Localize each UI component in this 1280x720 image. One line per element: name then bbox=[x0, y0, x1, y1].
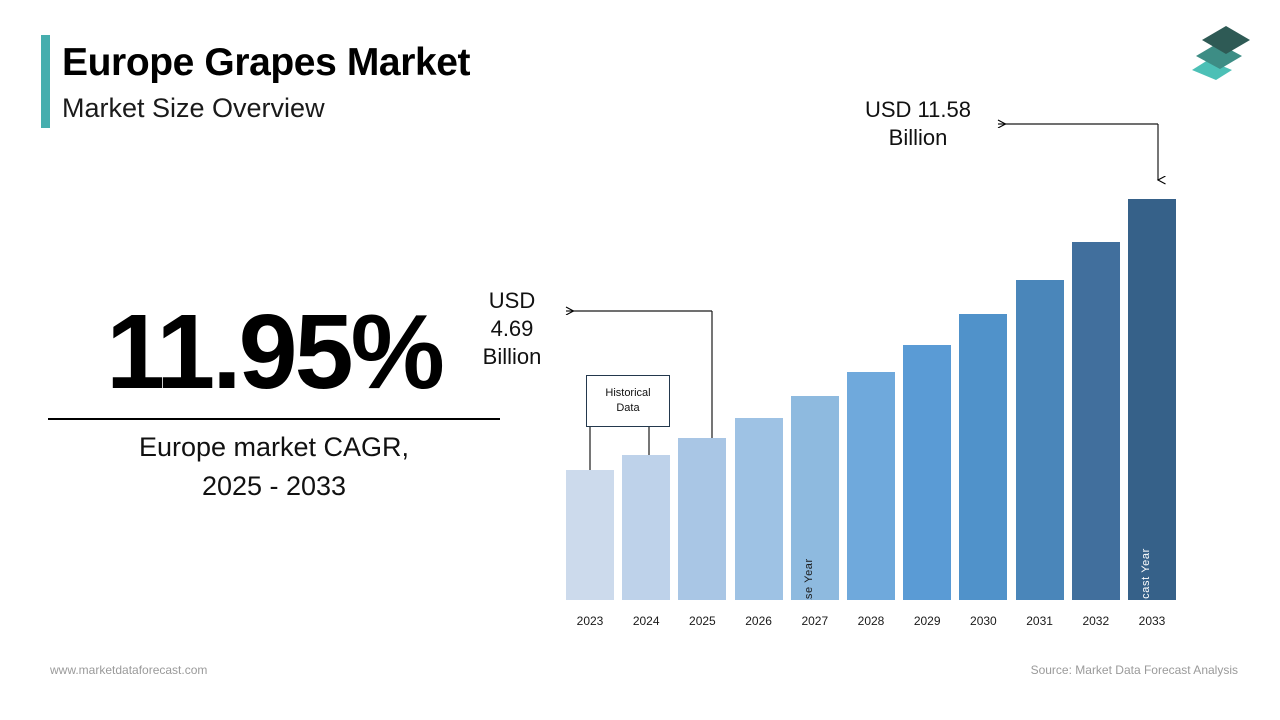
x-axis-label-2026: 2026 bbox=[735, 614, 783, 628]
cagr-divider bbox=[48, 418, 500, 420]
cagr-caption-line2: 2025 - 2033 bbox=[48, 467, 500, 506]
x-axis-label-2025: 2025 bbox=[678, 614, 726, 628]
end-value-line2: Billion bbox=[828, 124, 1008, 152]
x-axis-label-2031: 2031 bbox=[1016, 614, 1064, 628]
bar-2030[interactable] bbox=[959, 314, 1007, 600]
bar-slot: Base Year2027 bbox=[791, 190, 839, 630]
footer-source: Source: Market Data Forecast Analysis bbox=[1031, 663, 1238, 677]
x-axis-label-2028: 2028 bbox=[847, 614, 895, 628]
bar-2023[interactable] bbox=[566, 470, 614, 600]
x-axis-label-2024: 2024 bbox=[622, 614, 670, 628]
start-value-line2: 4.69 bbox=[466, 315, 558, 343]
footer-website[interactable]: www.marketdataforecast.com bbox=[50, 663, 207, 677]
end-value-callout: USD 11.58 Billion bbox=[828, 96, 1008, 152]
x-axis-label-2033: 2033 bbox=[1128, 614, 1176, 628]
page-title: Europe Grapes Market bbox=[62, 38, 702, 88]
bar-2029[interactable] bbox=[903, 345, 951, 600]
bar-slot: 2024 bbox=[622, 190, 670, 630]
bar-slot: 2031 bbox=[1016, 190, 1064, 630]
x-axis-label-2030: 2030 bbox=[959, 614, 1007, 628]
bar-slot: 2032 bbox=[1072, 190, 1120, 630]
end-value-line1: USD 11.58 bbox=[828, 96, 1008, 124]
cagr-caption-line1: Europe market CAGR, bbox=[48, 428, 500, 467]
bar-slot: 2023 bbox=[566, 190, 614, 630]
bar-2031[interactable] bbox=[1016, 280, 1064, 600]
page-subtitle: Market Size Overview bbox=[62, 88, 702, 128]
start-value-line1: USD bbox=[466, 287, 558, 315]
x-axis-label-2032: 2032 bbox=[1072, 614, 1120, 628]
bar-2028[interactable] bbox=[847, 372, 895, 600]
stacked-layers-logo bbox=[1174, 18, 1258, 90]
bar-2024[interactable] bbox=[622, 455, 670, 600]
start-value-callout: USD 4.69 Billion bbox=[466, 287, 558, 371]
bar-2033[interactable]: Forecast Year bbox=[1128, 199, 1176, 600]
bar-slot: 2025 bbox=[678, 190, 726, 630]
bar-slot: 2030 bbox=[959, 190, 1007, 630]
bar-slot: 2029 bbox=[903, 190, 951, 630]
bar-slot: 2026 bbox=[735, 190, 783, 630]
bar-chart: 2023202420252026Base Year202720282029203… bbox=[566, 190, 1186, 630]
title-accent-bar bbox=[41, 35, 50, 128]
bar-2025[interactable] bbox=[678, 438, 726, 600]
infographic-canvas: Europe Grapes Market Market Size Overvie… bbox=[0, 0, 1280, 720]
bar-2027[interactable]: Base Year bbox=[791, 396, 839, 600]
bar-inline-label-2027: Base Year bbox=[803, 558, 815, 600]
bar-inline-label-2033: Forecast Year bbox=[1140, 548, 1152, 600]
bar-slot: 2028 bbox=[847, 190, 895, 630]
cagr-block: 11.95% Europe market CAGR, 2025 - 2033 bbox=[48, 292, 500, 506]
start-value-line3: Billion bbox=[466, 343, 558, 371]
bar-2026[interactable] bbox=[735, 418, 783, 600]
title-block: Europe Grapes Market Market Size Overvie… bbox=[62, 38, 702, 128]
x-axis-label-2023: 2023 bbox=[566, 614, 614, 628]
bar-2032[interactable] bbox=[1072, 242, 1120, 600]
end-value-arrow bbox=[998, 124, 1158, 180]
x-axis-label-2029: 2029 bbox=[903, 614, 951, 628]
x-axis-label-2027: 2027 bbox=[791, 614, 839, 628]
bar-slot: Forecast Year2033 bbox=[1128, 190, 1176, 630]
cagr-value: 11.95% bbox=[48, 292, 500, 412]
